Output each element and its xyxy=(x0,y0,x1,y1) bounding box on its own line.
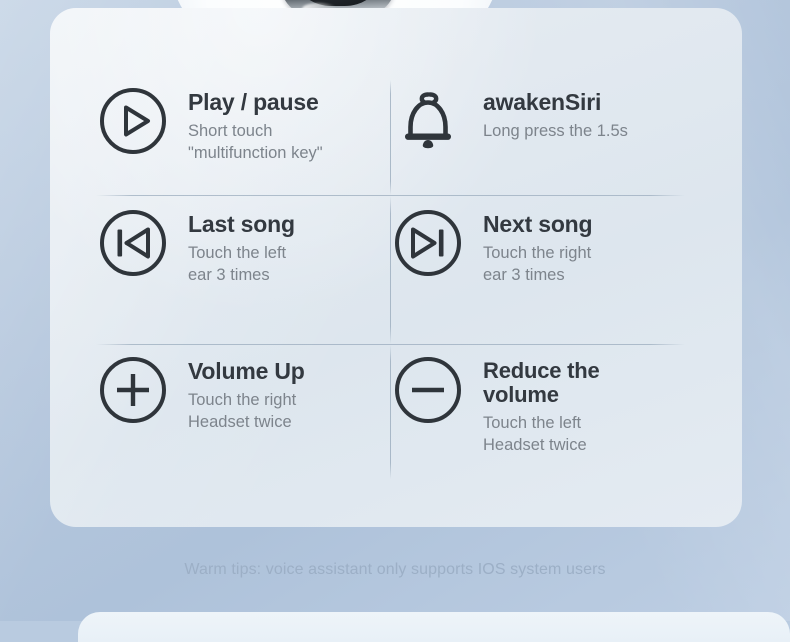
control-item-next-song: Next song Touch the right ear 3 times xyxy=(391,196,685,344)
control-item-volume-up: Volume Up Touch the right Headset twice xyxy=(96,345,390,479)
control-title: awakenSiri xyxy=(483,90,628,115)
control-item-awaken-siri: awakenSiri Long press the 1.5s xyxy=(391,80,685,195)
plus-circle-icon xyxy=(96,353,170,427)
control-subtitle: Touch the left Headset twice xyxy=(483,412,600,456)
control-item-play-pause: Play / pause Short touch "multifunction … xyxy=(96,80,390,195)
next-track-icon xyxy=(391,206,465,280)
control-title: Last song xyxy=(188,212,295,237)
control-title: Volume Up xyxy=(188,359,305,384)
warm-tip-text: Warm tips: voice assistant only supports… xyxy=(0,561,790,579)
control-text: Volume Up Touch the right Headset twice xyxy=(188,353,305,433)
control-text: awakenSiri Long press the 1.5s xyxy=(483,84,628,142)
control-item-last-song: Last song Touch the left ear 3 times xyxy=(96,196,390,344)
control-subtitle: Touch the right ear 3 times xyxy=(483,242,592,286)
control-text: Next song Touch the right ear 3 times xyxy=(483,206,592,286)
control-text: Play / pause Short touch "multifunction … xyxy=(188,84,323,164)
control-title: Reduce the volume xyxy=(483,359,600,407)
controls-card: Play / pause Short touch "multifunction … xyxy=(50,8,742,527)
control-subtitle: Long press the 1.5s xyxy=(483,120,628,142)
control-subtitle: Touch the left ear 3 times xyxy=(188,242,295,286)
minus-circle-icon xyxy=(391,353,465,427)
control-item-reduce-volume: Reduce the volume Touch the left Headset… xyxy=(391,345,685,479)
control-text: Last song Touch the left ear 3 times xyxy=(188,206,295,286)
control-subtitle: Short touch "multifunction key" xyxy=(188,120,323,164)
control-text: Reduce the volume Touch the left Headset… xyxy=(483,353,600,456)
control-title: Next song xyxy=(483,212,592,237)
control-subtitle: Touch the right Headset twice xyxy=(188,389,305,433)
previous-track-icon xyxy=(96,206,170,280)
controls-grid: Play / pause Short touch "multifunction … xyxy=(96,80,696,480)
bell-icon xyxy=(391,84,465,158)
control-title: Play / pause xyxy=(188,90,323,115)
bottom-panel xyxy=(78,612,790,642)
play-pause-icon xyxy=(96,84,170,158)
